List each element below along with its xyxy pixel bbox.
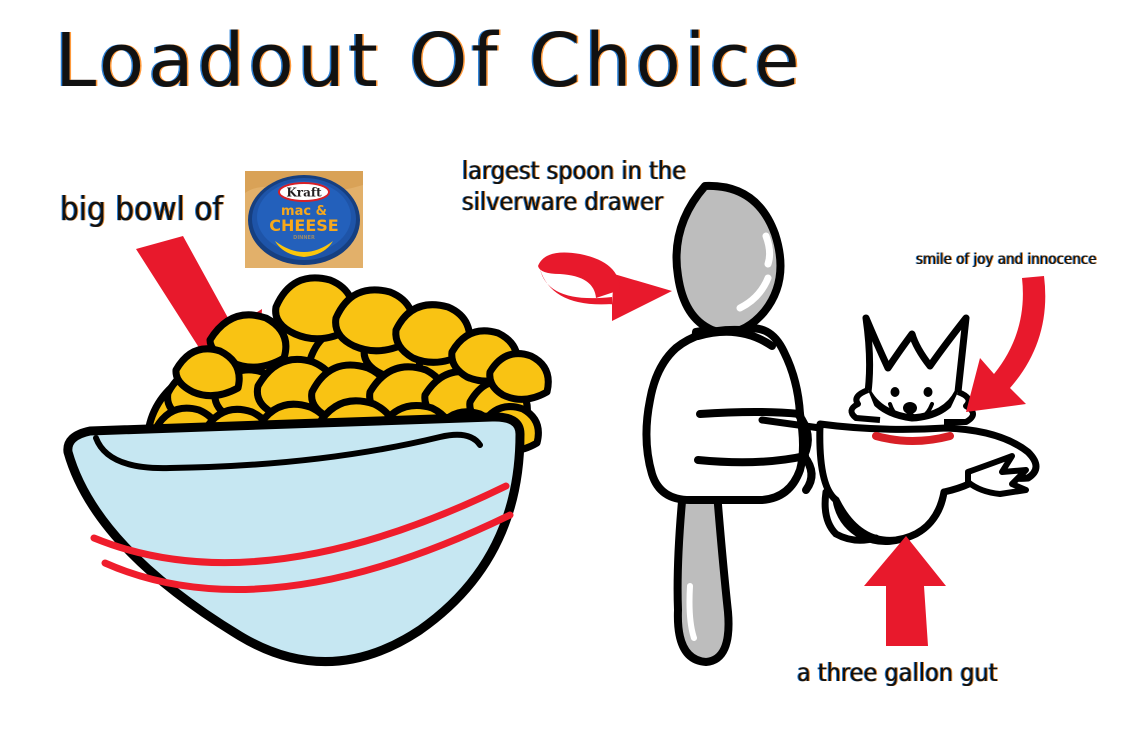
spoon-bowl xyxy=(677,186,781,333)
pet-eye-right xyxy=(924,387,933,397)
arrow-to-spoon-tail xyxy=(538,253,620,299)
illustration-layer xyxy=(0,0,1139,750)
pet-eye-left xyxy=(891,387,900,397)
arrow-to-smile xyxy=(966,276,1045,412)
bowl-of-macaroni xyxy=(68,278,548,662)
macaroni-piece xyxy=(490,354,549,400)
macaroni-piece xyxy=(176,349,239,396)
spoon-highlight-dot xyxy=(766,236,770,264)
pet-head xyxy=(866,318,966,418)
fist-finger-line-1 xyxy=(700,412,800,414)
fist xyxy=(646,328,811,500)
meme-canvas: Loadout Of Choice big bowl of largest sp… xyxy=(0,0,1139,750)
arrow-to-gut xyxy=(864,536,946,646)
fist-knuckle-2 xyxy=(804,456,812,490)
spoon-handle-lower xyxy=(678,480,729,662)
